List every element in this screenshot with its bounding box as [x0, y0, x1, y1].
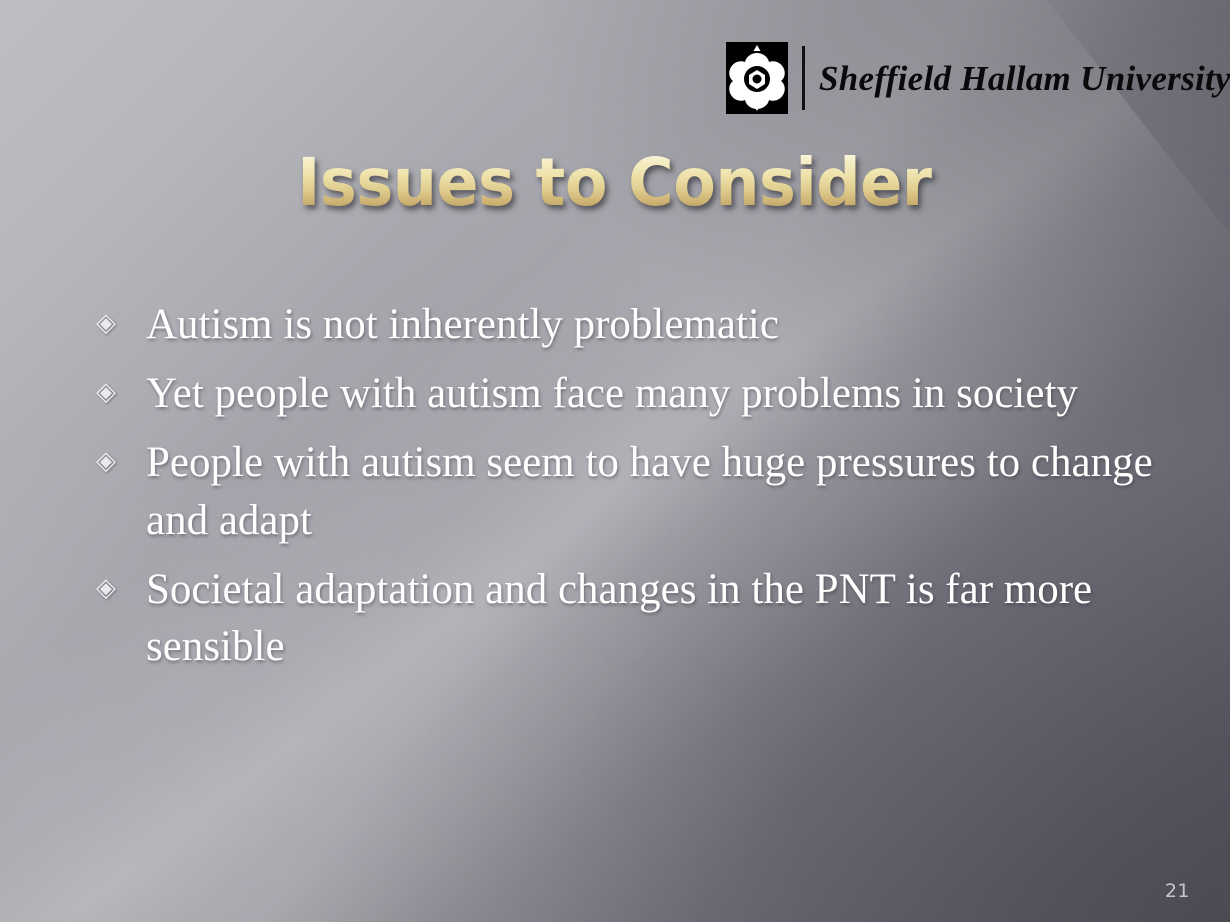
diamond-bullet-icon: ◈: [96, 365, 146, 405]
list-item-text: Yet people with autism face many problem…: [146, 365, 1171, 422]
diamond-bullet-icon: ◈: [96, 561, 146, 601]
diamond-bullet-icon: ◈: [96, 296, 146, 336]
bullet-list: ◈ Autism is not inherently problematic ◈…: [96, 296, 1171, 687]
logo-divider: [802, 46, 805, 110]
sheffield-hallam-rose-icon: [726, 42, 788, 114]
presentation-slide: Sheffield Hallam University Issues to Co…: [0, 0, 1230, 922]
list-item: ◈ Autism is not inherently problematic: [96, 296, 1171, 353]
list-item-text: People with autism seem to have huge pre…: [146, 434, 1171, 548]
list-item: ◈ Yet people with autism face many probl…: [96, 365, 1171, 422]
list-item-text: Autism is not inherently problematic: [146, 296, 1171, 353]
page-number: 21: [1165, 880, 1190, 902]
list-item: ◈ People with autism seem to have huge p…: [96, 434, 1171, 548]
diamond-bullet-icon: ◈: [96, 434, 146, 474]
list-item: ◈ Societal adaptation and changes in the…: [96, 561, 1171, 675]
university-name: Sheffield Hallam University: [819, 61, 1230, 96]
slide-title-container: Issues to Consider: [0, 148, 1230, 217]
slide-title: Issues to Consider: [298, 148, 933, 217]
university-logo: Sheffield Hallam University: [726, 42, 1230, 114]
list-item-text: Societal adaptation and changes in the P…: [146, 561, 1171, 675]
